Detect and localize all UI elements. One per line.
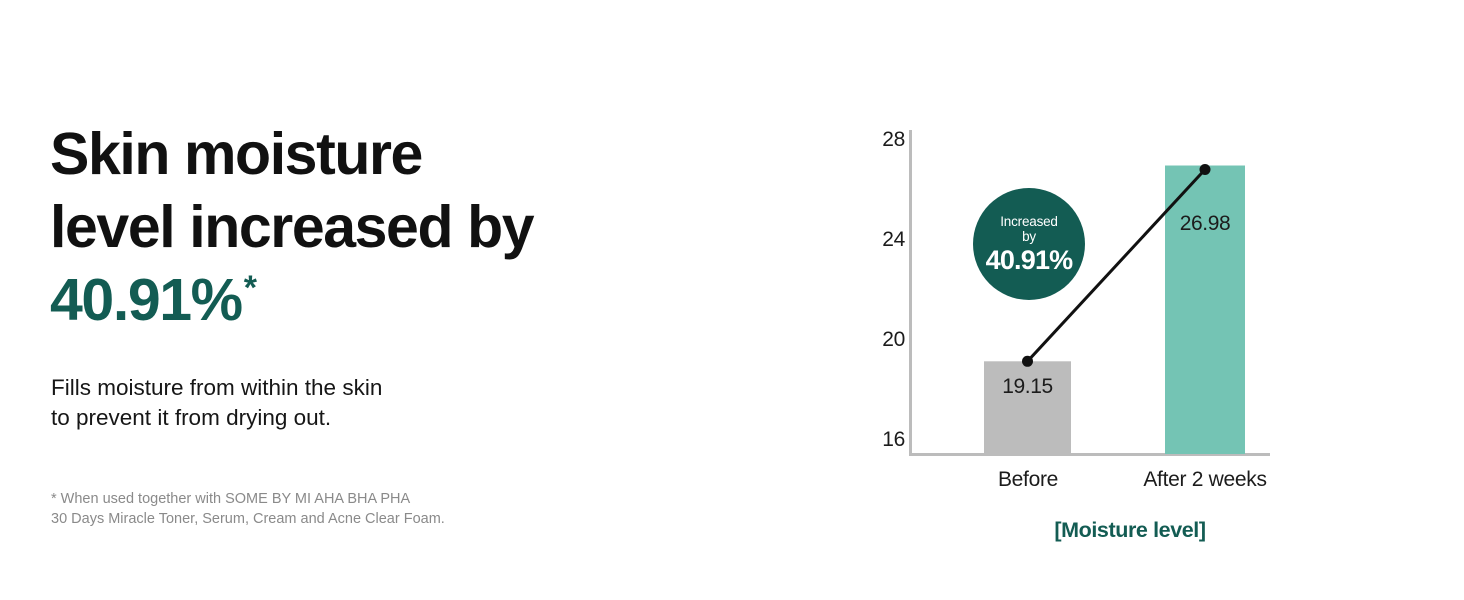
bar-value-label-before: 19.15: [984, 375, 1071, 399]
increase-badge: Increased by 40.91%: [973, 188, 1085, 300]
increase-badge-label: Increased by: [1000, 214, 1058, 244]
increase-badge-value: 40.91%: [986, 247, 1073, 274]
headline-line-2: level increased by: [50, 191, 770, 264]
chart-caption: [Moisture level]: [970, 518, 1290, 543]
intro-copy-panel: Skin moisture level increased by 40.91%*…: [50, 118, 770, 337]
trend-start-dot-icon: [1022, 356, 1033, 367]
footnote-marker-icon: *: [244, 269, 257, 307]
headline-line-1: Skin moisture: [50, 118, 770, 191]
y-tick-label-24: 24: [865, 228, 905, 252]
category-label-before: Before: [968, 468, 1088, 492]
increase-badge-label-line-2: by: [1022, 229, 1036, 244]
headline-percent: 40.91%: [50, 267, 242, 333]
chart-plot-area: [850, 110, 1310, 560]
y-tick-label-28: 28: [865, 128, 905, 152]
headline-accent-value: 40.91%*: [50, 264, 770, 337]
subcopy-line-1: Fills moisture from within the skin: [51, 373, 382, 403]
page-title: Skin moisture level increased by 40.91%*: [50, 118, 770, 337]
category-label-after: After 2 weeks: [1120, 468, 1290, 492]
moisture-level-bar-chart: 28 24 20 16 19.15 26.98 Before After 2 w…: [850, 110, 1310, 560]
y-tick-label-16: 16: [865, 428, 905, 452]
footnote: * When used together with SOME BY MI AHA…: [51, 490, 445, 529]
bar-after: [1165, 166, 1245, 455]
increase-badge-label-line-1: Increased: [1000, 214, 1058, 229]
footnote-line-2: 30 Days Miracle Toner, Serum, Cream and …: [51, 510, 445, 530]
subcopy: Fills moisture from within the skin to p…: [51, 373, 382, 433]
subcopy-line-2: to prevent it from drying out.: [51, 403, 382, 433]
trend-end-dot-icon: [1200, 164, 1211, 175]
y-tick-label-20: 20: [865, 328, 905, 352]
bar-value-label-after: 26.98: [1165, 212, 1245, 236]
footnote-line-1: * When used together with SOME BY MI AHA…: [51, 490, 445, 510]
